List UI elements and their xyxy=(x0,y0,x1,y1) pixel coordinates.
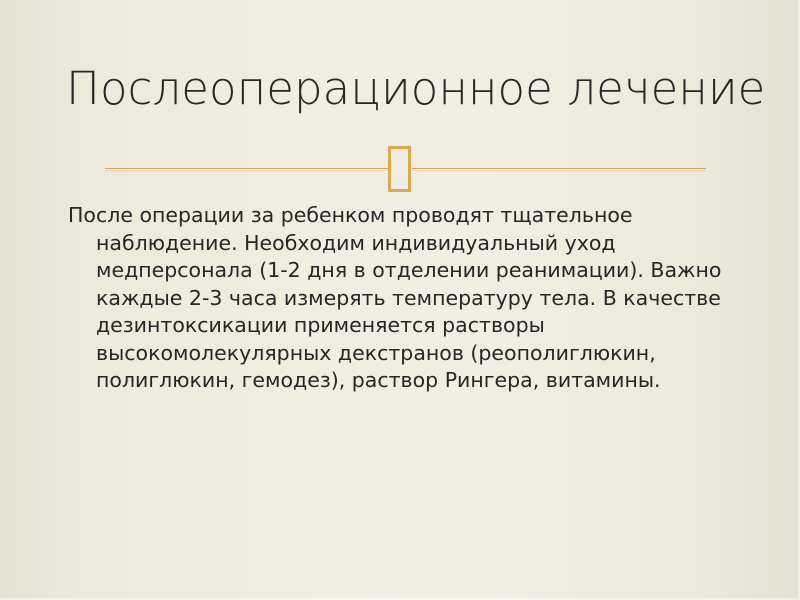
divider-rectangle-icon xyxy=(388,146,411,192)
slide-body-paragraph: После операции за ребенком проводят тщат… xyxy=(68,202,768,395)
title-divider-ornament xyxy=(0,146,800,194)
slide-title: Послеоперационное лечение xyxy=(66,64,766,114)
slide-canvas: Послеоперационное лечение После операции… xyxy=(0,0,800,600)
divider-rule-right xyxy=(412,168,706,169)
divider-rule-right-echo xyxy=(412,170,706,171)
divider-rule-left xyxy=(105,168,389,169)
divider-rule-left-echo xyxy=(105,170,389,171)
